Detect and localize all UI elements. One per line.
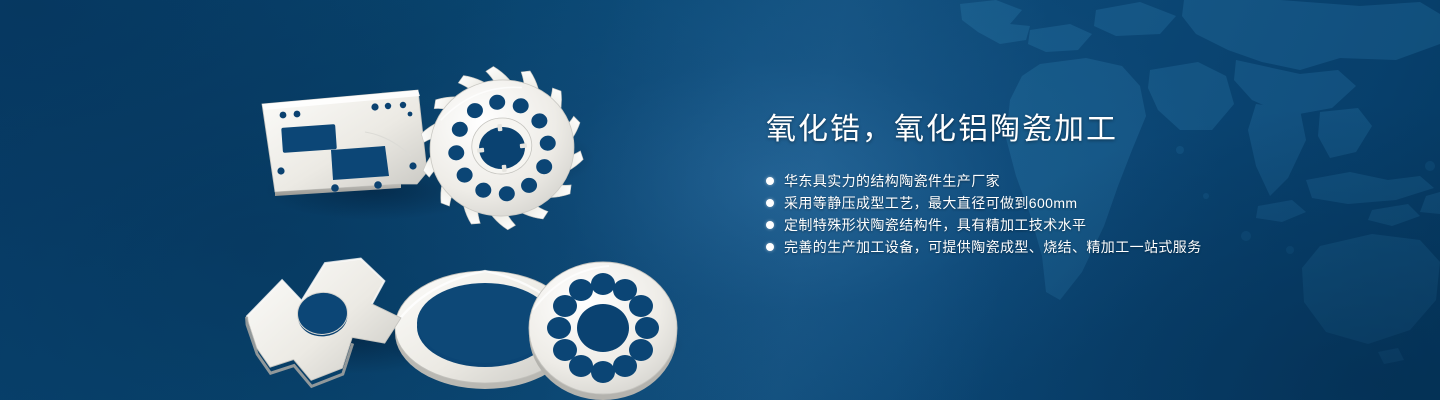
list-item: 采用等静压成型工艺，最大直径可做到600mm bbox=[766, 192, 1386, 214]
ceramic-products-image bbox=[215, 40, 715, 385]
list-item-label: 定制特殊形状陶瓷结构件，具有精加工技术水平 bbox=[784, 214, 1086, 236]
list-item: 定制特殊形状陶瓷结构件，具有精加工技术水平 bbox=[766, 214, 1386, 236]
list-item: 华东具实力的结构陶瓷件生产厂家 bbox=[766, 170, 1386, 192]
list-item-label: 完善的生产加工设备，可提供陶瓷成型、烧结、精加工一站式服务 bbox=[784, 236, 1202, 258]
promo-banner: 氧化锆，氧化铝陶瓷加工 华东具实力的结构陶瓷件生产厂家 采用等静压成型工艺，最大… bbox=[0, 0, 1440, 400]
banner-copy: 氧化锆，氧化铝陶瓷加工 华东具实力的结构陶瓷件生产厂家 采用等静压成型工艺，最大… bbox=[766, 108, 1386, 258]
bullet-dot-icon bbox=[766, 243, 774, 251]
list-item: 完善的生产加工设备，可提供陶瓷成型、烧结、精加工一站式服务 bbox=[766, 236, 1386, 258]
bullet-dot-icon bbox=[766, 221, 774, 229]
ceramic-perforated-disc bbox=[529, 262, 677, 400]
feature-list: 华东具实力的结构陶瓷件生产厂家 采用等静压成型工艺，最大直径可做到600mm 定… bbox=[766, 170, 1386, 258]
list-item-label: 华东具实力的结构陶瓷件生产厂家 bbox=[784, 170, 1000, 192]
bullet-dot-icon bbox=[766, 199, 774, 207]
page-title: 氧化锆，氧化铝陶瓷加工 bbox=[766, 108, 1386, 152]
ceramic-mounting-plate bbox=[262, 90, 427, 196]
list-item-label: 采用等静压成型工艺，最大直径可做到600mm bbox=[784, 192, 1077, 214]
bullet-dot-icon bbox=[766, 177, 774, 185]
